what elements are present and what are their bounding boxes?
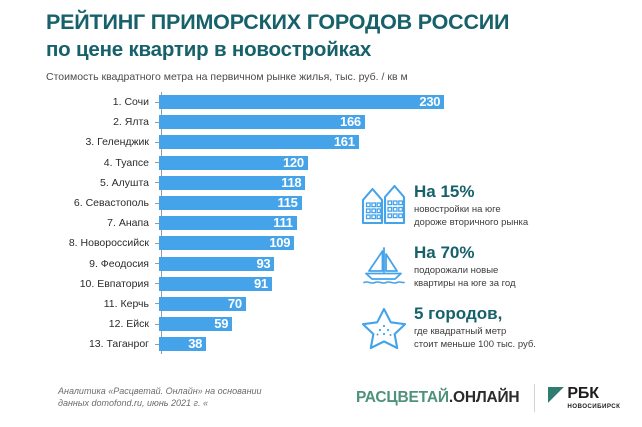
chart-bar-value: 118 xyxy=(271,175,301,191)
chart-row: 4. Туапсе120 xyxy=(0,153,500,173)
chart-bar-value: 230 xyxy=(410,94,440,110)
callout-subline-2: дороже вторичного рынка xyxy=(414,217,636,230)
chart-subtitle: Стоимость квадратного метра на первичном… xyxy=(46,70,606,84)
callout-subline-2: квартиры на юге за год xyxy=(414,278,636,291)
chart-category-label: 9. Феодосия xyxy=(0,258,155,270)
callout-item: На 15% новостройки на юге дороже вторичн… xyxy=(356,182,636,229)
source-note-line2: данных domofond.ru, июнь 2021 г. « xyxy=(58,397,348,409)
rascvetay-logo-green: РАСЦВЕТАЙ xyxy=(356,389,449,406)
bar-track: 230 xyxy=(159,95,500,109)
rbk-logo[interactable]: РБК НОВОСИБИРСК xyxy=(548,385,620,411)
chart-category-label: 11. Керчь xyxy=(0,298,155,310)
callout-headline: На 70% xyxy=(414,243,636,263)
chart-category-label: 2. Ялта xyxy=(0,116,155,128)
chart-bar-value: 111 xyxy=(263,215,293,231)
header: РЕЙТИНГ ПРИМОРСКИХ ГОРОДОВ РОССИИ по цен… xyxy=(46,10,606,84)
chart-bar-value: 166 xyxy=(331,114,361,130)
page-title-line2: по цене квартир в новостройках xyxy=(46,37,606,62)
chart-bar xyxy=(159,95,444,109)
chart-category-label: 3. Геленджик xyxy=(0,136,155,148)
chart-bar-value: 70 xyxy=(212,296,242,312)
rbk-logo-sub: НОВОСИБИРСК xyxy=(567,403,620,411)
chart-bar-value: 120 xyxy=(274,155,304,171)
callout-subline-1: новостройки на юге xyxy=(414,204,636,217)
houses-icon xyxy=(356,182,412,226)
callout-item: На 70% подорожали новые квартиры на юге … xyxy=(356,243,636,290)
starfish-icon xyxy=(356,304,412,350)
chart-category-label: 1. Сочи xyxy=(0,96,155,108)
rascvetay-logo-dark: .ОНЛАЙН xyxy=(449,389,520,406)
callout-panel: На 15% новостройки на юге дороже вторичн… xyxy=(356,182,636,365)
footer-logos: РАСЦВЕТАЙ.ОНЛАЙН РБК НОВОСИБИРСК xyxy=(356,380,636,416)
chart-category-label: 6. Севастополь xyxy=(0,197,155,209)
chart-bar-value: 59 xyxy=(198,316,228,332)
infographic-root: РЕЙТИНГ ПРИМОРСКИХ ГОРОДОВ РОССИИ по цен… xyxy=(0,0,642,427)
callout-text: 5 городов, где квадратный метр стоит мен… xyxy=(412,304,636,351)
rbk-logo-main: РБК xyxy=(567,385,620,402)
sailboat-icon xyxy=(356,243,412,287)
callout-headline: 5 городов, xyxy=(414,304,636,324)
chart-row: 1. Сочи230 xyxy=(0,92,500,112)
chart-category-label: 12. Ейск xyxy=(0,318,155,330)
chart-row: 3. Геленджик161 xyxy=(0,132,500,152)
rbk-triangle-icon xyxy=(548,387,564,403)
rbk-text: РБК НОВОСИБИРСК xyxy=(567,385,620,411)
chart-category-label: 13. Таганрог xyxy=(0,338,155,350)
bar-track: 120 xyxy=(159,156,500,170)
page-title-line1: РЕЙТИНГ ПРИМОРСКИХ ГОРОДОВ РОССИИ xyxy=(46,10,606,35)
rascvetay-logo[interactable]: РАСЦВЕТАЙ.ОНЛАЙН xyxy=(356,389,519,407)
chart-bar-value: 115 xyxy=(268,195,298,211)
callout-text: На 70% подорожали новые квартиры на юге … xyxy=(412,243,636,290)
chart-bar-value: 161 xyxy=(325,134,355,150)
chart-category-label: 4. Туапсе xyxy=(0,157,155,169)
source-note: Аналитика «Расцветай. Онлайн» на основан… xyxy=(58,385,348,409)
chart-bar-value: 38 xyxy=(172,336,202,352)
source-note-line1: Аналитика «Расцветай. Онлайн» на основан… xyxy=(58,385,348,397)
bar-track: 166 xyxy=(159,115,500,129)
chart-bar-value: 93 xyxy=(240,256,270,272)
callout-item: 5 городов, где квадратный метр стоит мен… xyxy=(356,304,636,351)
chart-category-label: 7. Анапа xyxy=(0,217,155,229)
chart-category-label: 10. Евпатория xyxy=(0,278,155,290)
callout-text: На 15% новостройки на юге дороже вторичн… xyxy=(412,182,636,229)
callout-subline-1: где квадратный метр xyxy=(414,326,636,339)
chart-row: 2. Ялта166 xyxy=(0,112,500,132)
bar-track: 161 xyxy=(159,135,500,149)
callout-subline-1: подорожали новые xyxy=(414,265,636,278)
chart-bar-value: 91 xyxy=(238,276,268,292)
chart-category-label: 5. Алушта xyxy=(0,177,155,189)
callout-headline: На 15% xyxy=(414,182,636,202)
logo-divider xyxy=(534,384,535,412)
chart-bar-value: 109 xyxy=(260,235,290,251)
callout-subline-2: стоит меньше 100 тыс. руб. xyxy=(414,339,636,352)
chart-category-label: 8. Новороссийск xyxy=(0,237,155,249)
